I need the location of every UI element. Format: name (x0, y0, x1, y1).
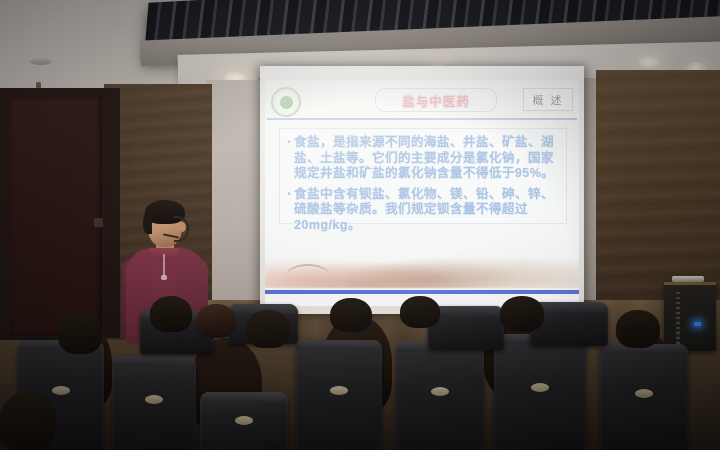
smoke-detector-icon (30, 58, 52, 65)
auditorium-seat (600, 344, 688, 450)
bullet-marker-icon: • (284, 135, 294, 182)
audience-member-head (0, 392, 56, 450)
slide-bullet-text-1: 食盐，是指来源不同的海盐、井盐、矿盐、湖盐、土盐等。它们的主要成分是氯化钠，国家… (294, 135, 562, 182)
screen-top-highlight (260, 66, 584, 78)
presenter-zipper (163, 254, 165, 276)
slide-body-box: • 食盐，是指来源不同的海盐、井盐、矿盐、湖盐、土盐等。它们的主要成分是氯化钠，… (279, 128, 567, 224)
slide-title-box: 盐与中医药 (375, 88, 497, 112)
slide-section-badge-label: 概 述 (532, 92, 563, 108)
audience-member-head (246, 310, 290, 348)
slide-bullet-item: • 食盐中含有钡盐、氯化物、镁、铅、砷、锌、硫酸盐等杂质。我们规定钡含量不得超过… (284, 187, 562, 234)
bullet-marker-icon: • (284, 187, 294, 234)
audience-member-head (196, 304, 236, 338)
audience-member-head (400, 296, 440, 328)
presenter-hair-side (143, 212, 152, 234)
slide-accent-bar (265, 290, 579, 294)
slide-decorative-arc (287, 264, 329, 286)
seat-headrest-top (112, 356, 196, 366)
institution-logo-icon (271, 87, 301, 117)
auditorium-seat (200, 392, 288, 450)
slide-section-badge: 概 述 (523, 88, 573, 111)
lecture-hall-screenshot: 盐与中医药 概 述 • 食盐，是指来源不同的海盐、井盐、矿盐、湖盐、土盐等。它们… (0, 0, 720, 450)
slide-header-rule (267, 118, 577, 120)
audience-member-head (500, 296, 544, 332)
audience-area (0, 296, 720, 450)
presenter-zipper-pull (161, 275, 167, 280)
audience-member-head (330, 298, 372, 332)
auditorium-seat (296, 340, 382, 450)
audience-member-head (58, 314, 102, 354)
auditorium-seat (494, 334, 586, 450)
seat-headrest-top (296, 340, 382, 350)
audience-member-head (616, 310, 660, 348)
auditorium-seat (112, 356, 196, 450)
slide-bullet-item: • 食盐，是指来源不同的海盐、井盐、矿盐、湖盐、土盐等。它们的主要成分是氯化钠，… (284, 135, 562, 182)
slide-header: 盐与中医药 概 述 (265, 82, 579, 116)
slide-bullet-text-2: 食盐中含有钡盐、氯化物、镁、铅、砷、锌、硫酸盐等杂质。我们规定钡含量不得超过20… (294, 187, 562, 234)
logo-inner-mark (280, 96, 293, 109)
slide-content: 盐与中医药 概 述 • 食盐，是指来源不同的海盐、井盐、矿盐、湖盐、土盐等。它们… (265, 80, 579, 306)
auditorium-seat (396, 342, 484, 450)
downlight-icon (636, 56, 662, 69)
audience-member-head (150, 296, 192, 332)
slide-title: 盐与中医药 (402, 91, 470, 110)
rack-top-device (672, 276, 704, 282)
door-plate-icon (94, 218, 103, 227)
seat-headrest-top (200, 392, 288, 402)
